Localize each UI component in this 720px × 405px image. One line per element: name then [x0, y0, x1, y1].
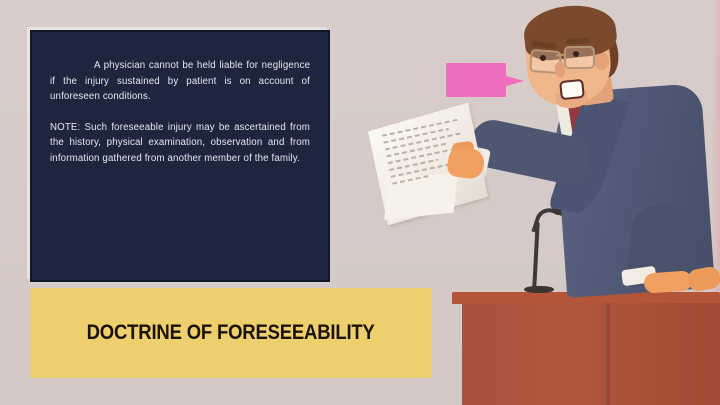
podium-front-panel [462, 303, 720, 405]
panel-paragraph-note: NOTE: Such foreseeable injury may be asc… [50, 120, 310, 167]
speaker-eyeglass-lens-right [564, 46, 595, 70]
speaker-eyebrow-right [566, 38, 590, 45]
slide-title: DOCTRINE OF FORESEEABILITY [87, 321, 375, 345]
presentation-slide: A physician cannot be held liable for ne… [0, 0, 720, 405]
content-panel-body: A physician cannot be held liable for ne… [50, 58, 310, 167]
content-panel: A physician cannot be held liable for ne… [30, 30, 330, 282]
speaker-eye-right [573, 51, 579, 57]
speech-bubble [446, 63, 506, 97]
speaker-eye-left [540, 55, 546, 61]
microphone-base [524, 286, 554, 293]
speaker-open-mouth [559, 79, 585, 100]
podium-shadow-edge [606, 303, 610, 405]
speaker-hand-right [643, 270, 692, 293]
title-banner: DOCTRINE OF FORESEEABILITY [30, 288, 432, 378]
panel-paragraph-primary: A physician cannot be held liable for ne… [50, 58, 310, 105]
speech-bubble-tail [506, 76, 524, 86]
